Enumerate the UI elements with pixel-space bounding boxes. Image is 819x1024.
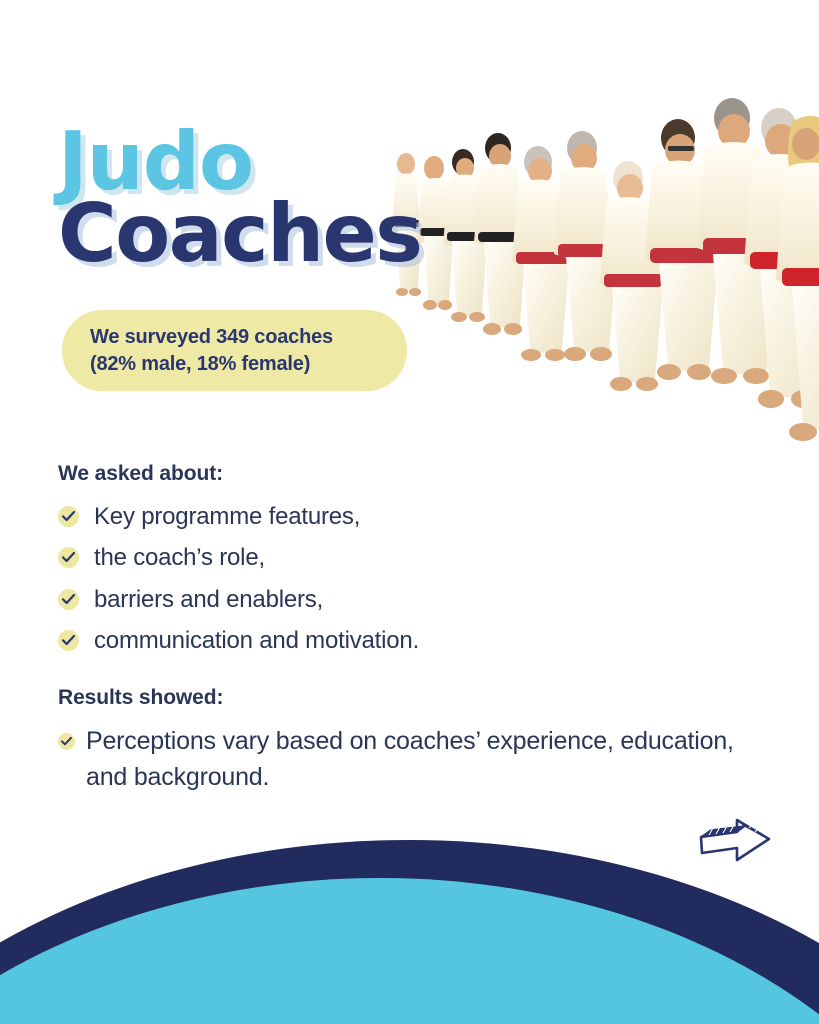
asked-section: We asked about: Key programme features, …	[58, 462, 698, 665]
list-item-label: communication and motivation.	[94, 624, 419, 658]
check-circle-icon	[58, 589, 79, 610]
survey-badge-line-1: We surveyed 349 coaches	[90, 324, 381, 351]
judo-coaches-lineup-photo	[388, 52, 819, 462]
list-item: Perceptions vary based on coaches’ exper…	[58, 724, 758, 795]
list-item: the coach’s role,	[58, 541, 698, 575]
survey-badge-line-2: (82% male, 18% female)	[90, 351, 381, 378]
results-section: Results showed: Perceptions vary based o…	[58, 686, 758, 795]
results-section-heading: Results showed:	[58, 686, 758, 710]
title-line-coaches: Coaches	[58, 195, 421, 273]
list-item-label: Perceptions vary based on coaches’ exper…	[86, 724, 758, 795]
asked-bullet-list: Key programme features, the coach’s role…	[58, 500, 698, 658]
poster-canvas: Judo Coaches We surveyed 349 coaches (82…	[0, 0, 819, 1024]
list-item: communication and motivation.	[58, 624, 698, 658]
check-circle-icon	[58, 547, 79, 568]
results-bullet-list: Perceptions vary based on coaches’ exper…	[58, 724, 758, 795]
check-circle-icon	[58, 506, 79, 527]
list-item-label: barriers and enablers,	[94, 583, 323, 617]
list-item-label: the coach’s role,	[94, 541, 265, 575]
list-item-label: Key programme features,	[94, 500, 360, 534]
asked-section-heading: We asked about:	[58, 462, 698, 486]
list-item: barriers and enablers,	[58, 583, 698, 617]
list-item: Key programme features,	[58, 500, 698, 534]
survey-badge: We surveyed 349 coaches (82% male, 18% f…	[62, 310, 407, 391]
check-circle-icon	[58, 630, 79, 651]
title-line-judo: Judo	[58, 128, 421, 195]
swipe-right-arrow-icon[interactable]	[697, 815, 773, 877]
page-title: Judo Coaches	[58, 128, 421, 274]
check-circle-icon	[58, 733, 75, 750]
